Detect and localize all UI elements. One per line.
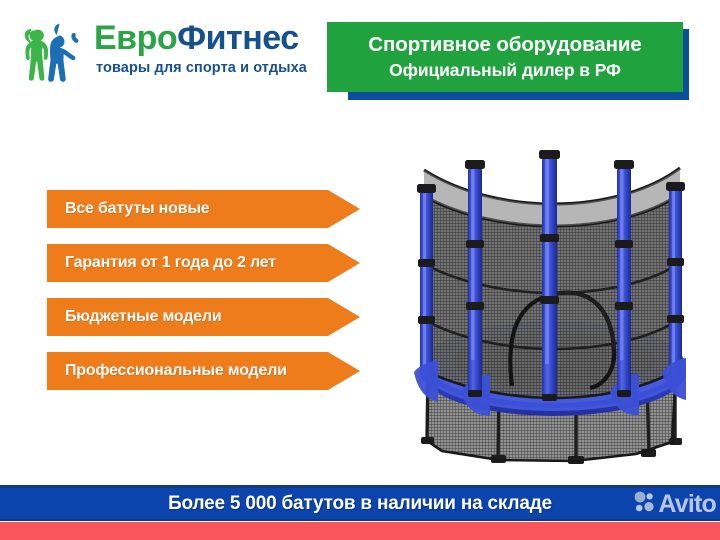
product-photo-trampoline: unix fitness [404,124,720,464]
stock-banner: Более 5 000 батутов в наличии на складе [0,485,720,521]
brand-logo[interactable]: ЕвроФитнес товары для спорта и отдыха [22,18,322,90]
avito-watermark: Avito [632,487,716,521]
feature-item-4[interactable]: Профессиональные модели [47,352,360,390]
feature-item-2[interactable]: Гарантия от 1 года до 2 лет [47,244,360,282]
headline-line-1: Спортивное оборудование [368,33,641,57]
logo-wordmark: ЕвроФитнес [94,18,299,58]
avito-logo-icon [632,490,656,519]
stock-banner-text: Более 5 000 батутов в наличии на складе [168,493,552,515]
promo-banner-page: ЕвроФитнес товары для спорта и отдыха Сп… [0,0,720,540]
bottom-accent-strip [0,522,720,540]
logo-tagline: товары для спорта и отдыха [96,60,307,76]
headline-banner: Спортивное оборудование Официальный диле… [327,22,689,100]
headline-banner-body: Спортивное оборудование Официальный диле… [327,22,683,92]
logo-word-fitnes: Фитнес [177,19,298,57]
fitness-figures-icon [22,20,90,82]
feature-item-1[interactable]: Все батуты новые [47,190,360,228]
avito-label: Avito [658,492,716,517]
feature-list: Все батуты новые Гарантия от 1 года до 2… [47,190,367,406]
headline-line-2: Официальный дилер в РФ [389,60,621,81]
feature-item-2-label: Гарантия от 1 года до 2 лет [47,254,276,272]
feature-item-3-label: Бюджетные модели [47,308,221,326]
logo-word-evro: Евро [94,19,177,57]
feature-item-4-label: Профессиональные модели [47,362,287,380]
feature-item-3[interactable]: Бюджетные модели [47,298,360,336]
feature-item-1-label: Все батуты новые [47,200,210,218]
